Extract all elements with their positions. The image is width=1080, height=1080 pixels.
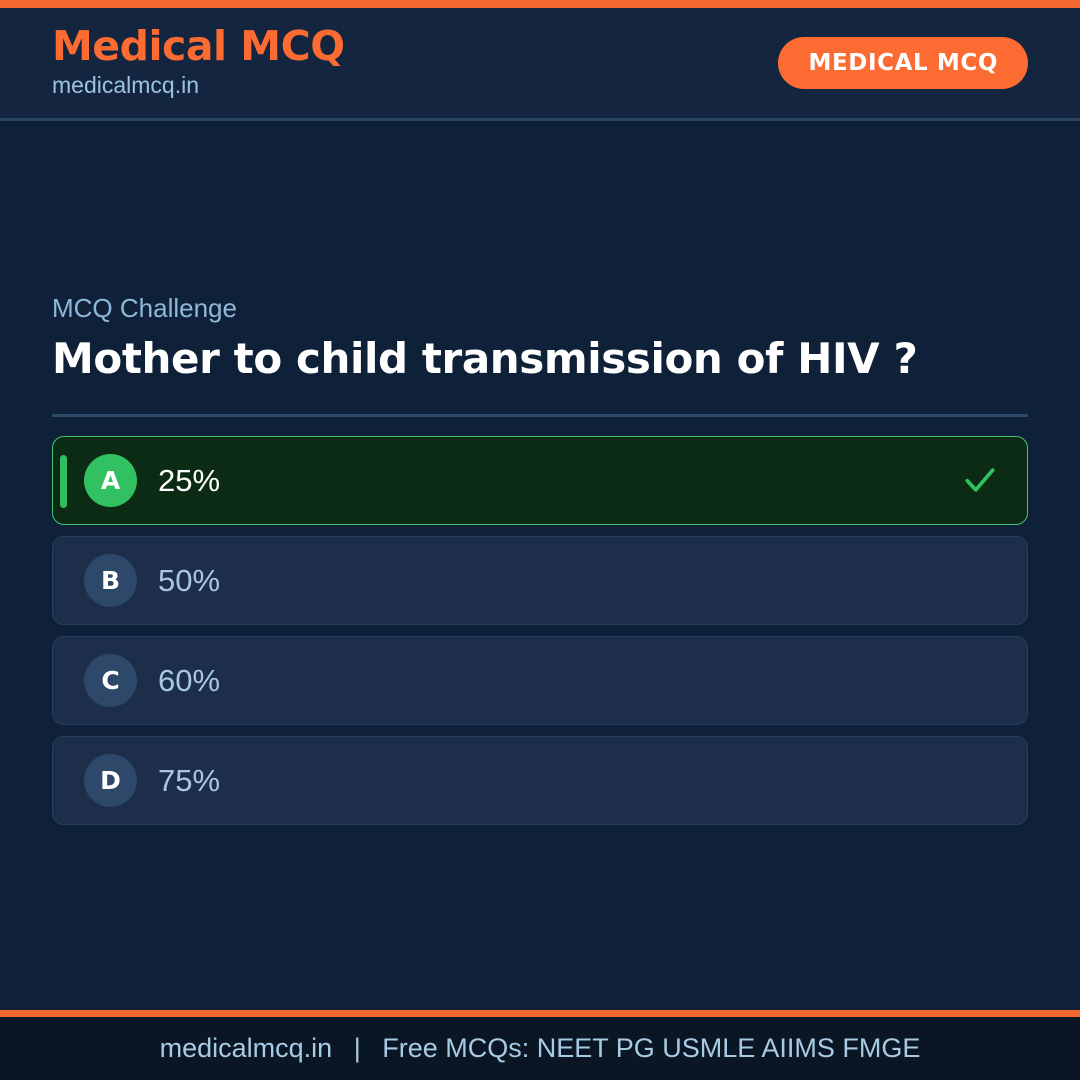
option-letter-badge: A	[84, 454, 137, 507]
option-letter-badge: D	[84, 754, 137, 807]
brand-site: medicalmcq.in	[52, 70, 345, 101]
correct-accent-bar	[60, 455, 67, 508]
check-icon	[963, 463, 997, 497]
footer-exams: Free MCQs: NEET PG USMLE AIIMS FMGE	[382, 1033, 920, 1063]
mcq-card: Medical MCQ medicalmcq.in MEDICAL MCQ MC…	[0, 0, 1080, 1080]
option-letter-badge: C	[84, 654, 137, 707]
top-spacer	[52, 121, 1028, 293]
option-row-b[interactable]: B 50%	[52, 536, 1028, 625]
footer-text: medicalmcq.in | Free MCQs: NEET PG USMLE…	[160, 1033, 921, 1064]
footer-separator: |	[340, 1033, 375, 1063]
divider	[52, 414, 1028, 417]
footer-site: medicalmcq.in	[160, 1033, 333, 1063]
brand-block: Medical MCQ medicalmcq.in	[52, 25, 345, 101]
option-row-d[interactable]: D 75%	[52, 736, 1028, 825]
brand-title: Medical MCQ	[52, 25, 345, 68]
option-letter-badge: B	[84, 554, 137, 607]
options-list: A 25% B 50% C 60%	[52, 436, 1028, 825]
header: Medical MCQ medicalmcq.in MEDICAL MCQ	[0, 8, 1080, 121]
top-accent-bar	[0, 0, 1080, 8]
option-label: 75%	[158, 765, 220, 796]
eyebrow-label: MCQ Challenge	[52, 293, 1028, 324]
option-label: 60%	[158, 665, 220, 696]
header-badge: MEDICAL MCQ	[778, 37, 1028, 89]
page-title: Mother to child transmission of HIV ?	[52, 332, 977, 386]
option-row-a[interactable]: A 25%	[52, 436, 1028, 525]
footer-accent-bar	[0, 1010, 1080, 1017]
option-row-c[interactable]: C 60%	[52, 636, 1028, 725]
footer: medicalmcq.in | Free MCQs: NEET PG USMLE…	[0, 1017, 1080, 1080]
question-body: MCQ Challenge Mother to child transmissi…	[0, 121, 1080, 1010]
option-label: 25%	[158, 465, 220, 496]
option-label: 50%	[158, 565, 220, 596]
